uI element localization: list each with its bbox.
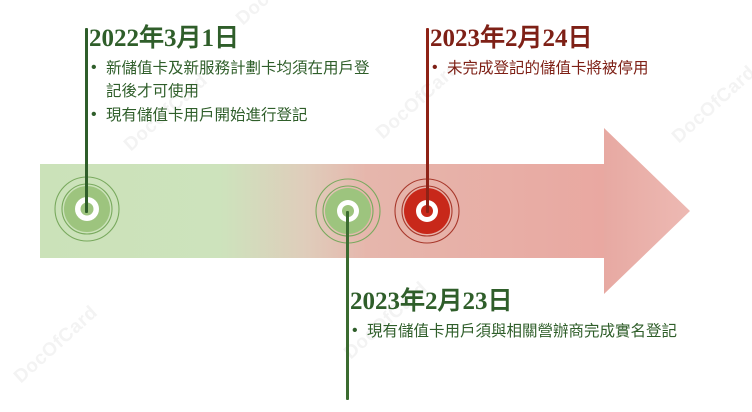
watermark-text: DocOfCard [668, 62, 752, 148]
milestone-bullet-list: 未完成登記的儲值卡將被停用 [430, 57, 676, 80]
watermark-text: DocOfCard [10, 302, 103, 388]
milestone-bullet-list: 現有儲值卡用戶須與相關營辦商完成實名登記 [350, 320, 686, 343]
milestone-bullet-list: 新儲值卡及新服務計劃卡均須在用戶登記後才可使用 現有儲值卡用戶開始進行登記 [89, 57, 380, 127]
milestone-heading: 2023年2月24日 [430, 24, 676, 54]
milestone-label-1: 2022年3月1日 新儲值卡及新服務計劃卡均須在用戶登記後才可使用 現有儲值卡用… [80, 24, 380, 128]
milestone-heading: 2023年2月23日 [350, 287, 686, 317]
arrow-body [40, 164, 604, 258]
arrow-head [604, 128, 690, 294]
milestone-bullet: 未完成登記的儲值卡將被停用 [430, 57, 676, 80]
milestone-label-3: 2023年2月24日 未完成登記的儲值卡將被停用 [421, 24, 676, 81]
milestone-heading: 2022年3月1日 [89, 24, 380, 54]
milestone-bullet: 現有儲值卡用戶開始進行登記 [89, 104, 380, 127]
milestone-label-2: 2023年2月23日 現有儲值卡用戶須與相關營辦商完成實名登記 [341, 287, 686, 344]
milestone-bullet: 新儲值卡及新服務計劃卡均須在用戶登記後才可使用 [89, 57, 380, 103]
timeline-infographic: DocOfCard DocOfCard DocOfCard DocOfCard … [0, 0, 752, 412]
milestone-bullet: 現有儲值卡用戶須與相關營辦商完成實名登記 [350, 320, 686, 343]
